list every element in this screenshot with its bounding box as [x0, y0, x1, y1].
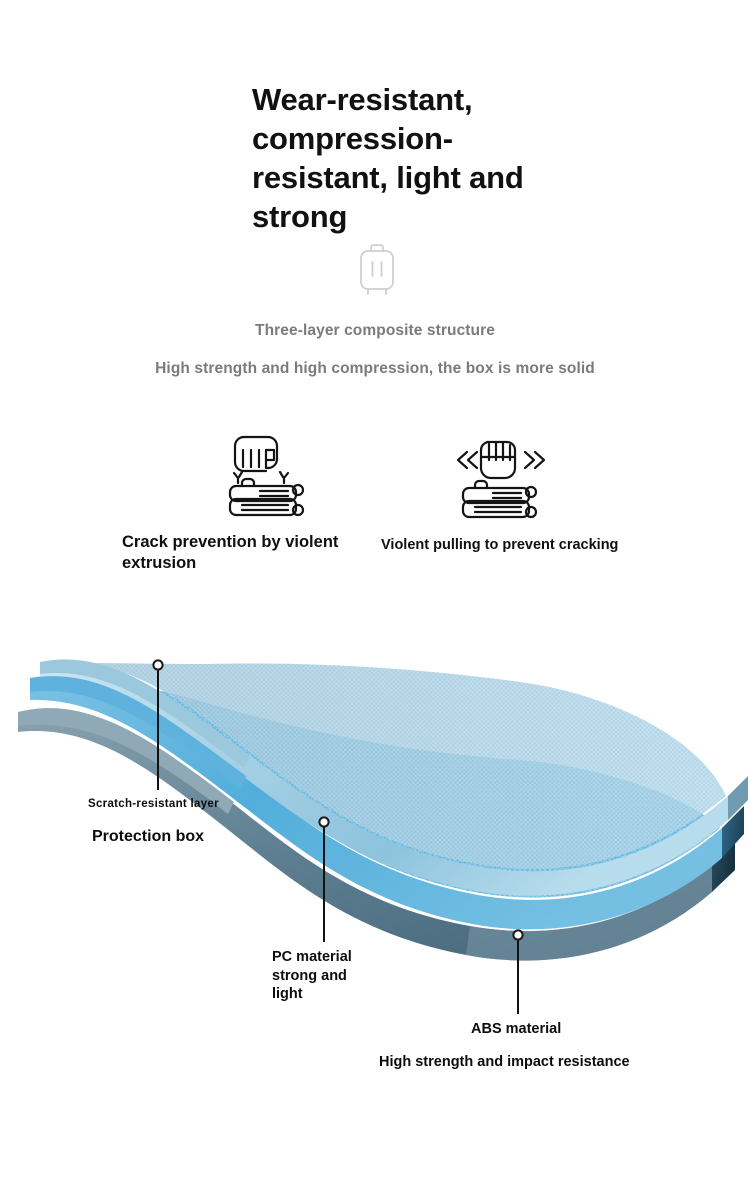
subheading-strength: High strength and high compression, the …: [0, 360, 750, 378]
fist-pressing-suitcase-icon: [212, 428, 316, 526]
page-title: Wear-resistant, compression-resistant, l…: [252, 80, 552, 236]
callout-title-scratch: Scratch-resistant layer: [88, 797, 219, 812]
feature-label-extrusion: Crack prevention by violent extrusion: [122, 532, 372, 575]
callout-subtitle-abs-strength: High strength and impact resistance: [379, 1053, 630, 1072]
feature-label-pulling: Violent pulling to prevent cracking: [381, 536, 651, 555]
callout-title-pc-material: PC material strong and light: [272, 948, 352, 1004]
callout-title-abs-material: ABS material: [471, 1020, 561, 1039]
suitcase-icon: [352, 242, 402, 300]
subheading-structure: Three-layer composite structure: [0, 322, 750, 340]
callout-subtitle-protection-box: Protection box: [92, 827, 204, 847]
fist-pulling-suitcase-icon: [443, 430, 555, 526]
